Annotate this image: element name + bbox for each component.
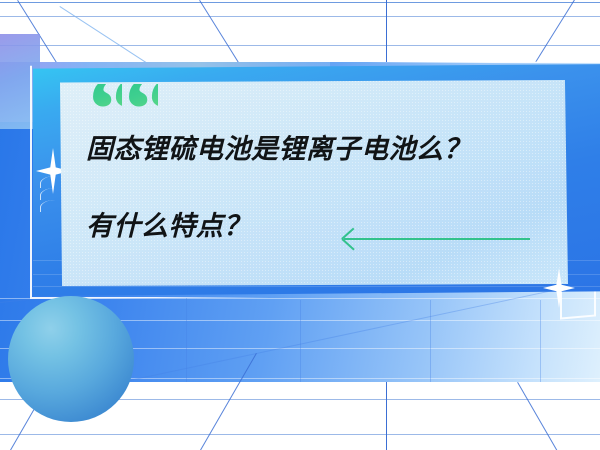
quote-mark: ” [508,275,542,327]
quote-mark: ” [472,275,506,327]
grid-hline [0,45,600,46]
grid-hline [0,434,600,435]
headline-line-1: 固态锂硫电池是锂离子电池么？ [86,127,556,166]
arrow-left-icon [330,228,530,250]
grid-hline [0,2,600,3]
grid-diagonal [517,382,574,450]
sphere-decoration-blue [8,296,134,422]
page-title: 固态锂硫电池是锂离子电池么？ 有什么特点？ [86,127,556,243]
grid-hline [0,16,600,17]
arrow-shaft [344,238,530,240]
grid-vline [386,382,387,450]
quote-close-icon: ” ” [472,275,542,327]
sparkle-icon [543,268,575,308]
grid-diagonal [532,0,575,68]
grid-vline [386,0,387,62]
poster-canvas: “ “ 固态锂硫电池是锂离子电池么？ 有什么特点？ ” ” [0,0,600,450]
